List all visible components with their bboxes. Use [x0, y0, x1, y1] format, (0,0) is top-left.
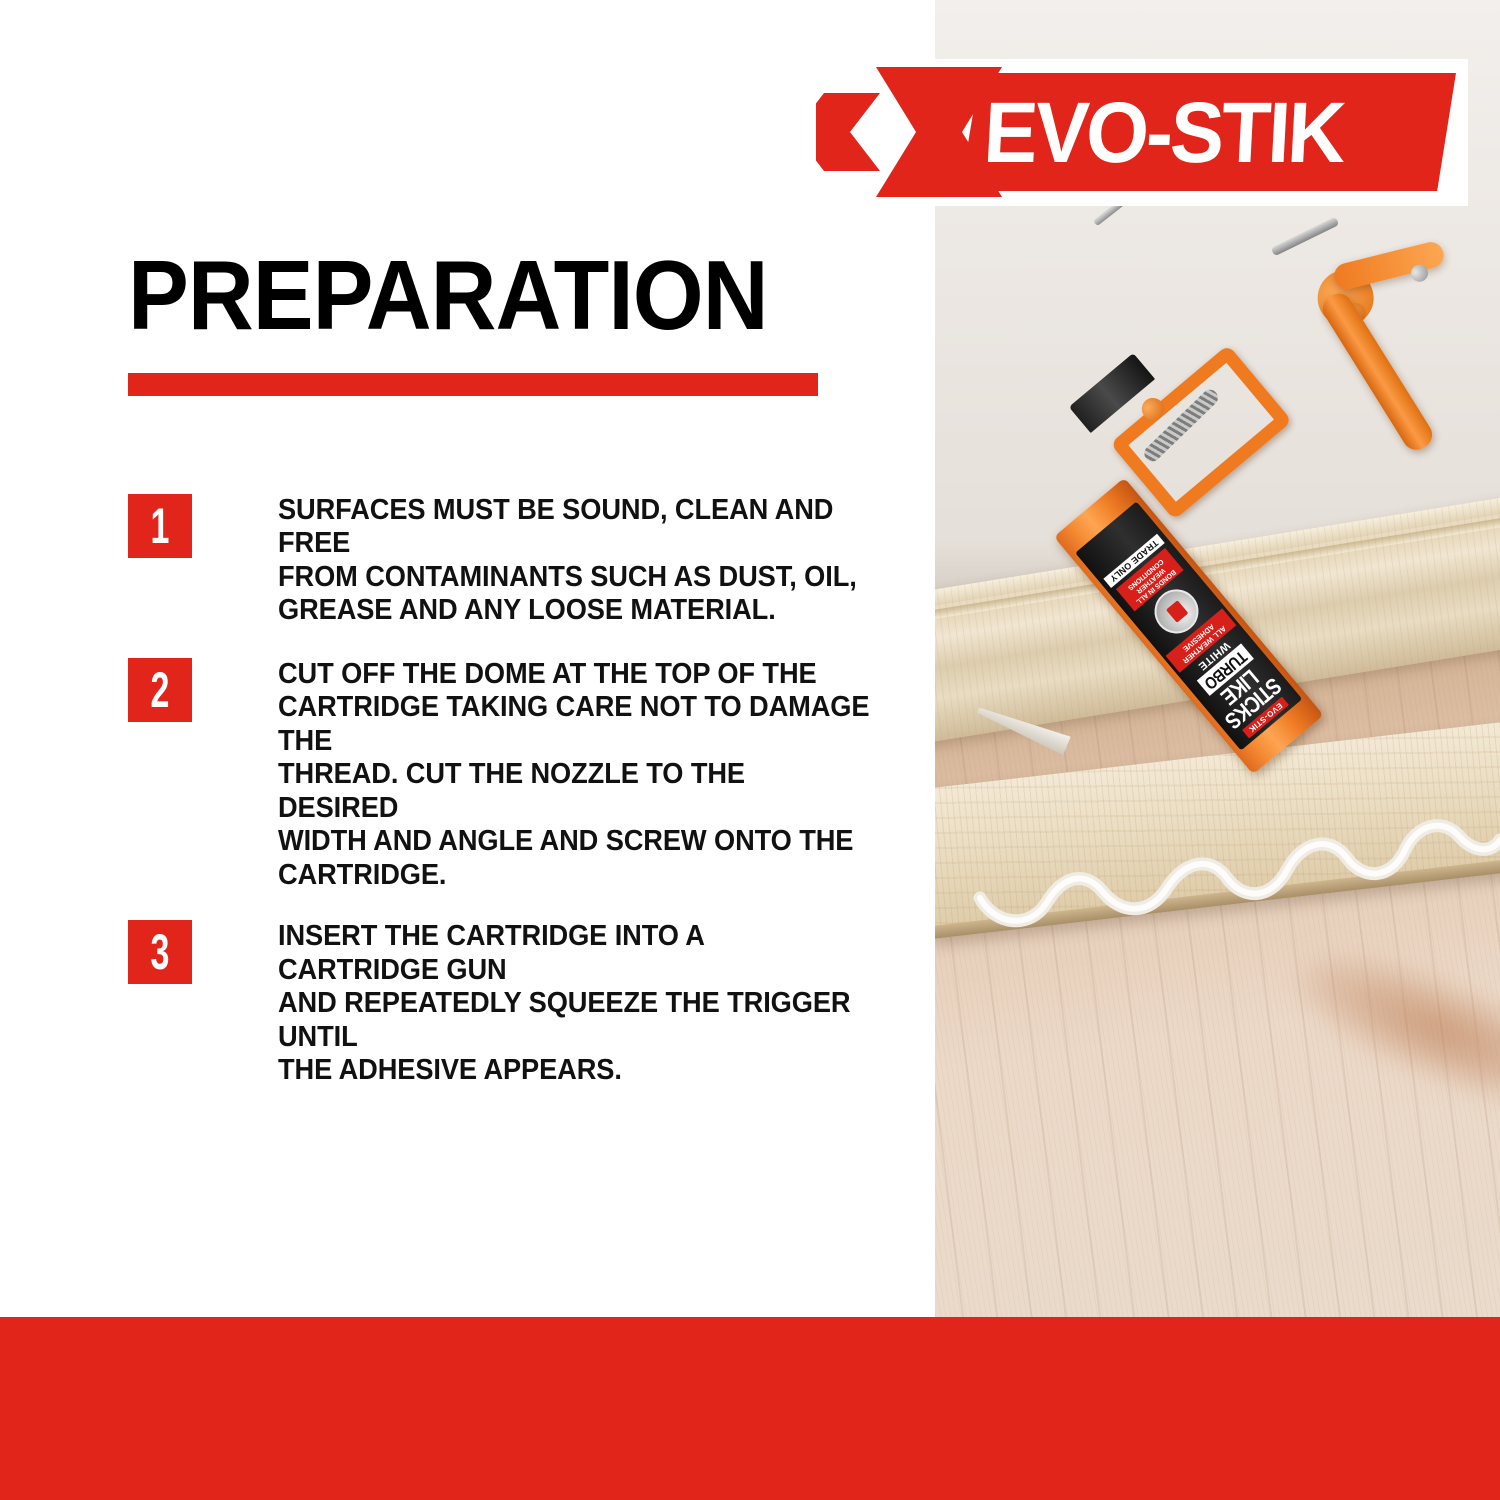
poster-root: EVO-STIK STICKS LIKE TURBO WHITE ALL WEA… [0, 0, 1500, 1500]
logo-badge: EVO-STIK [816, 67, 1456, 197]
caulking-gun: EVO-STIK STICKS LIKE TURBO WHITE ALL WEA… [1055, 380, 1475, 850]
list-item: 2 CUT OFF THE DOME AT THE TOP OF THE CAR… [128, 658, 898, 892]
footer-bar [0, 1317, 1500, 1500]
title-underline-rule [128, 373, 818, 396]
step-number-badge: 3 [128, 920, 192, 984]
step-text: SURFACES MUST BE SOUND, CLEAN AND FREE F… [278, 494, 870, 628]
list-item: 3 INSERT THE CARTRIDGE INTO A CARTRIDGE … [128, 920, 898, 1087]
step-number: 3 [151, 920, 170, 984]
list-item: 1 SURFACES MUST BE SOUND, CLEAN AND FREE… [128, 494, 898, 628]
step-text: CUT OFF THE DOME AT THE TOP OF THE CARTR… [278, 658, 870, 892]
cartridge-label: EVO-STIK STICKS LIKE TURBO WHITE ALL WEA… [1075, 501, 1302, 750]
page-title: PREPARATION [128, 246, 768, 344]
step-number-badge: 2 [128, 658, 192, 722]
logo-wordmark: EVO-STIK [981, 85, 1428, 181]
step-number-badge: 1 [128, 494, 192, 558]
step-number: 1 [151, 494, 170, 558]
step-text: INSERT THE CARTRIDGE INTO A CARTRIDGE GU… [278, 920, 870, 1087]
step-number: 2 [151, 658, 170, 722]
brand-logo[interactable]: EVO-STIK [816, 59, 1468, 206]
steps-list: 1 SURFACES MUST BE SOUND, CLEAN AND FREE… [128, 494, 898, 1120]
